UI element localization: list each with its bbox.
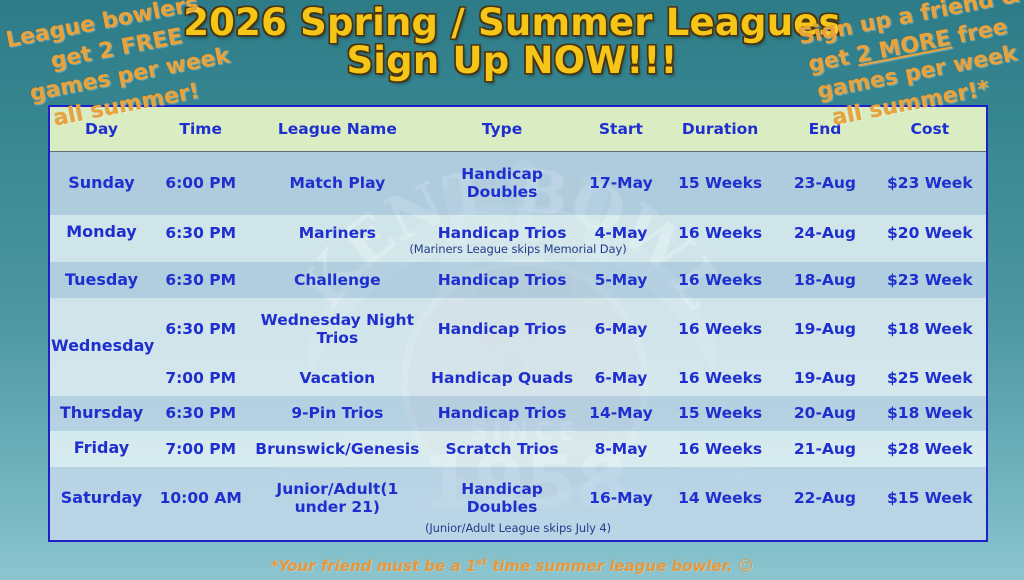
promo-right-line-2-post: free bbox=[948, 14, 1010, 50]
cell-duration: 15 Weeks bbox=[664, 151, 776, 215]
table-body: Sunday 6:00 PM Match Play Handicap Doubl… bbox=[50, 151, 986, 540]
column-header-league[interactable]: League Name bbox=[248, 107, 426, 151]
cell-time: 6:30 PM bbox=[153, 298, 248, 361]
footnote-pre: *Your friend must be a 1 bbox=[270, 557, 476, 575]
cell-time: 6:30 PM bbox=[153, 396, 248, 432]
cell-type: Scratch Trios bbox=[426, 431, 578, 467]
cell-duration: 16 Weeks bbox=[664, 262, 776, 298]
promo-right-line-2-emphasis: 2 MORE bbox=[854, 25, 953, 68]
cell-cost: $23 Week bbox=[874, 262, 986, 298]
cell-start: 17-May bbox=[578, 151, 664, 215]
table-header: Day Time League Name Type Start Duration… bbox=[50, 107, 986, 151]
column-header-end[interactable]: End bbox=[776, 107, 873, 151]
table-row-note: (Mariners League skips Memorial Day) bbox=[50, 250, 986, 262]
column-header-start[interactable]: Start bbox=[578, 107, 664, 151]
title-line-1: 2026 Spring / Summer Leagues bbox=[0, 4, 1024, 42]
cell-start: 6-May bbox=[578, 361, 664, 396]
column-header-time[interactable]: Time bbox=[153, 107, 248, 151]
table-row[interactable]: 7:00 PM Vacation Handicap Quads 6-May 16… bbox=[50, 361, 986, 396]
promo-left-line-3: games per week bbox=[28, 43, 233, 110]
cell-end: 18-Aug bbox=[776, 262, 873, 298]
league-schedule-table: Day Time League Name Type Start Duration… bbox=[50, 107, 986, 540]
cell-day: Friday bbox=[50, 431, 153, 467]
cell-day: Tuesday bbox=[50, 262, 153, 298]
cell-start: 8-May bbox=[578, 431, 664, 467]
promo-left-line-2: get 2 FREE bbox=[6, 14, 227, 84]
table-row-note: (Junior/Adult League skips July 4) bbox=[50, 530, 986, 540]
cell-end: 19-Aug bbox=[776, 361, 873, 396]
cell-cost: $15 Week bbox=[874, 467, 986, 530]
footnote-disclaimer: *Your friend must be a 1st time summer l… bbox=[0, 557, 1024, 575]
cell-end: 21-Aug bbox=[776, 431, 873, 467]
cell-start: 6-May bbox=[578, 298, 664, 361]
table-row[interactable]: Friday 7:00 PM Brunswick/Genesis Scratch… bbox=[50, 431, 986, 467]
cell-end: 22-Aug bbox=[776, 467, 873, 530]
cell-time: 10:00 AM bbox=[153, 467, 248, 530]
promo-right-line-2: get 2 MORE free bbox=[801, 12, 1014, 80]
cell-duration: 16 Weeks bbox=[664, 361, 776, 396]
column-header-duration[interactable]: Duration bbox=[664, 107, 776, 151]
table-row[interactable]: Sunday 6:00 PM Match Play Handicap Doubl… bbox=[50, 151, 986, 215]
row-note-junior-adult: (Junior/Adult League skips July 4) bbox=[50, 522, 986, 539]
cell-day: Sunday bbox=[50, 151, 153, 215]
cell-cost: $28 Week bbox=[874, 431, 986, 467]
cell-start: 5-May bbox=[578, 262, 664, 298]
cell-day: Thursday bbox=[50, 396, 153, 432]
cell-end: 20-Aug bbox=[776, 396, 873, 432]
cell-end: 19-Aug bbox=[776, 298, 873, 361]
cell-time: 7:00 PM bbox=[153, 431, 248, 467]
cell-duration: 14 Weeks bbox=[664, 467, 776, 530]
cell-league: Match Play bbox=[248, 151, 426, 215]
title-line-2: Sign Up NOW!!! bbox=[0, 42, 1024, 80]
cell-league: 9-Pin Trios bbox=[248, 396, 426, 432]
cell-type: Handicap Doubles bbox=[426, 151, 578, 215]
cell-cost: $23 Week bbox=[874, 151, 986, 215]
cell-league: Junior/Adult(1 under 21) bbox=[248, 467, 426, 530]
table-row[interactable]: Tuesday 6:30 PM Challenge Handicap Trios… bbox=[50, 262, 986, 298]
cell-type: Handicap Trios bbox=[426, 298, 578, 361]
cell-type: Handicap Quads bbox=[426, 361, 578, 396]
promo-right-line-1: Sign up a friend & bbox=[796, 0, 1022, 53]
table-row[interactable]: Thursday 6:30 PM 9-Pin Trios Handicap Tr… bbox=[50, 396, 986, 432]
cell-cost: $18 Week bbox=[874, 298, 986, 361]
footnote-post: time summer league bowler. ☺ bbox=[487, 557, 754, 575]
cell-time: 7:00 PM bbox=[153, 361, 248, 396]
cell-time: 6:00 PM bbox=[153, 151, 248, 215]
table-row[interactable]: Wednesday 6:30 PM Wednesday Night Trios … bbox=[50, 298, 986, 361]
row-note-mariners: (Mariners League skips Memorial Day) bbox=[50, 243, 986, 261]
cell-type: Handicap Trios bbox=[426, 262, 578, 298]
promo-right-line-3: games per week bbox=[807, 39, 1024, 109]
cell-cost: $18 Week bbox=[874, 396, 986, 432]
promo-right-line-2-pre: get bbox=[806, 43, 859, 77]
cell-league: Challenge bbox=[248, 262, 426, 298]
cell-cost: $25 Week bbox=[874, 361, 986, 396]
cell-league: Vacation bbox=[248, 361, 426, 396]
page-title: 2026 Spring / Summer Leagues Sign Up NOW… bbox=[0, 4, 1024, 81]
cell-duration: 16 Weeks bbox=[664, 431, 776, 467]
cell-day: Wednesday bbox=[50, 298, 153, 396]
promo-left-line-1: League bowlers bbox=[0, 0, 222, 60]
cell-league: Wednesday Night Trios bbox=[248, 298, 426, 361]
cell-league: Brunswick/Genesis bbox=[248, 431, 426, 467]
cell-type: Handicap Trios bbox=[426, 396, 578, 432]
cell-end: 23-Aug bbox=[776, 151, 873, 215]
cell-duration: 16 Weeks bbox=[664, 298, 776, 361]
cell-start: 14-May bbox=[578, 396, 664, 432]
cell-time: 6:30 PM bbox=[153, 262, 248, 298]
column-header-cost[interactable]: Cost bbox=[874, 107, 986, 151]
column-header-day[interactable]: Day bbox=[50, 107, 153, 151]
column-header-type[interactable]: Type bbox=[426, 107, 578, 151]
footnote-ordinal: st bbox=[476, 557, 487, 568]
cell-duration: 15 Weeks bbox=[664, 396, 776, 432]
league-schedule-table-container: Day Time League Name Type Start Duration… bbox=[48, 105, 988, 542]
header-row: Day Time League Name Type Start Duration… bbox=[50, 107, 986, 151]
cell-day: Saturday bbox=[50, 467, 153, 530]
